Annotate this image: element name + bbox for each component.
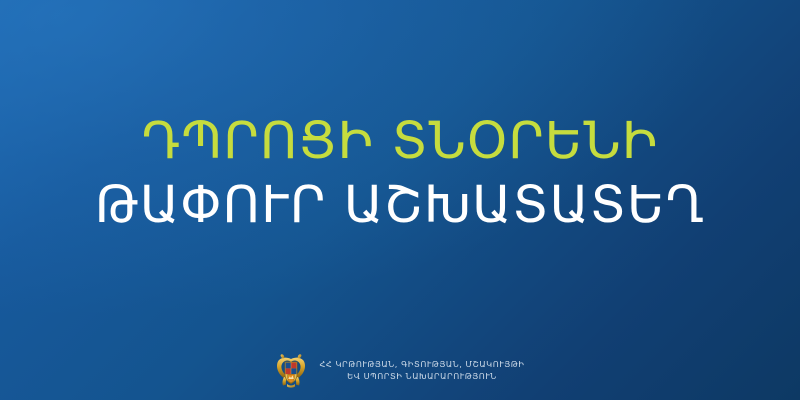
headline-line-1: ԴՊՐՈՑԻ ՏՆՕՐԵՆԻ xyxy=(0,116,800,167)
armenia-coat-of-arms-icon xyxy=(276,354,306,388)
headline-block: ԴՊՐՈՑԻ ՏՆՕՐԵՆԻ ԹԱՓՈՒՐ ԱՇԽԱՏԱՏԵՂ xyxy=(0,116,800,231)
headline-line-2: ԹԱՓՈՒՐ ԱՇԽԱՏԱՏԵՂ xyxy=(0,180,800,231)
vacancy-banner: ԴՊՐՈՑԻ ՏՆՕՐԵՆԻ ԹԱՓՈՒՐ ԱՇԽԱՏԱՏԵՂ xyxy=(0,0,800,400)
ministry-name-line-2: ԵՎ ՍՊՈՐՏԻ ՆԱԽԱՐԱՐՈՒԹՅՈՒՆ xyxy=(347,371,497,383)
footer-branding: ՀՀ ԿՐԹՈՒԹՅԱՆ, ԳԻՏՈՒԹՅԱՆ, ՄՇԱԿՈՒՅԹԻ ԵՎ ՍՊ… xyxy=(0,354,800,388)
ministry-name-line-1: ՀՀ ԿՐԹՈՒԹՅԱՆ, ԳԻՏՈՒԹՅԱՆ, ՄՇԱԿՈՒՅԹԻ xyxy=(320,359,525,371)
ministry-name: ՀՀ ԿՐԹՈՒԹՅԱՆ, ԳԻՏՈՒԹՅԱՆ, ՄՇԱԿՈՒՅԹԻ ԵՎ ՍՊ… xyxy=(320,359,525,383)
